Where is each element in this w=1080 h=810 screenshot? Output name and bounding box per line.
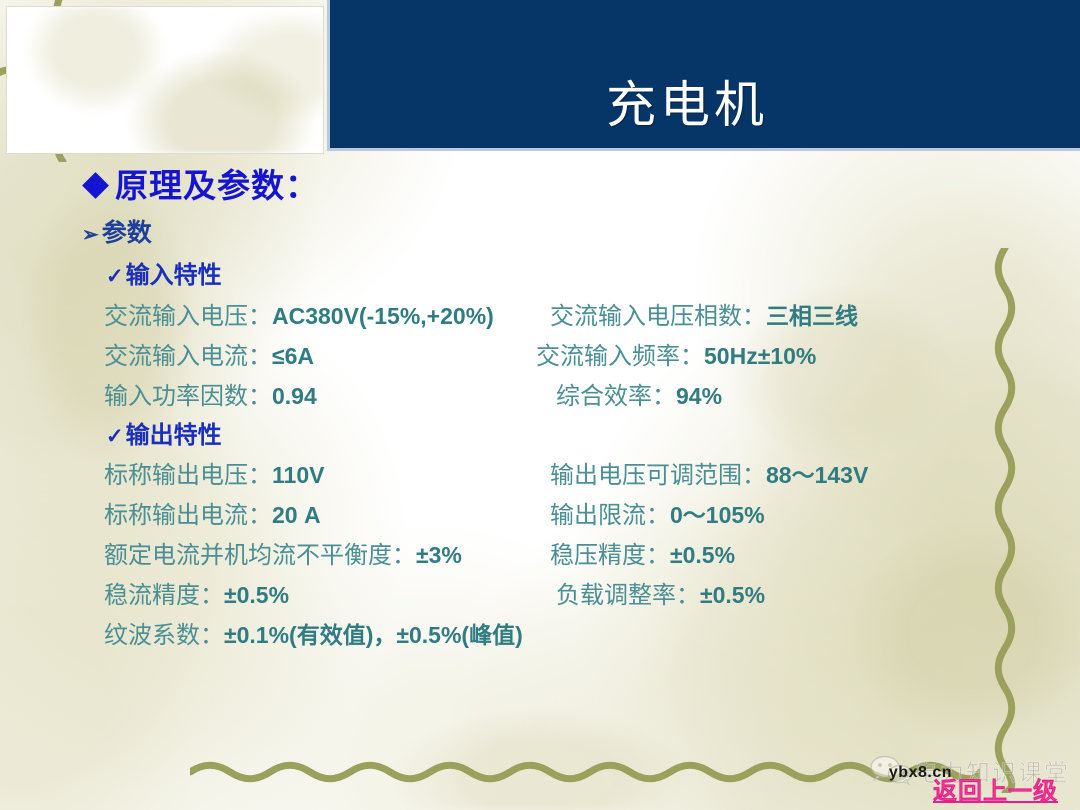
section-title-label: 输入特性: [126, 263, 222, 289]
param-label: 稳压精度：: [550, 543, 670, 569]
slide-image-panel: [6, 6, 324, 154]
param-label: 标称输出电压：: [104, 463, 272, 489]
slide-canvas: 充电机 原理及参数： ➢参数 ✓输入特性 ✓输出特性 交流输入电压：AC380V…: [0, 0, 1080, 810]
param-label: 负载调整率：: [556, 583, 700, 609]
slide-title-bar: 充电机: [327, 0, 1080, 151]
param-label: 交流输入电压：: [104, 304, 272, 330]
param-row: 稳流精度：±0.5%: [104, 584, 289, 608]
param-row: 交流输入电压相数：三相三线: [550, 305, 858, 329]
param-row: 交流输入频率：50Hz±10%: [536, 345, 816, 369]
param-label: 额定电流并机均流不平衡度：: [104, 543, 416, 569]
param-value: ±0.5%: [224, 582, 289, 608]
param-value: ≤6A: [272, 343, 314, 369]
param-value: 0.94: [272, 383, 317, 409]
param-label: 交流输入电流：: [104, 344, 272, 370]
param-value: ±3%: [416, 542, 462, 568]
param-label: 纹波系数：: [104, 623, 224, 649]
param-row: 标称输出电流：20 A: [104, 504, 321, 528]
param-row: 交流输入电压：AC380V(-15%,+20%): [104, 305, 494, 329]
param-label: 稳流精度：: [104, 583, 224, 609]
param-row: 稳压精度：±0.5%: [550, 544, 735, 568]
section-title-output-characteristics: ✓输出特性: [106, 415, 222, 450]
section-title-label: 输出特性: [126, 423, 222, 449]
check-bullet-icon: ✓: [106, 424, 124, 449]
panel-floral-wash: [7, 7, 323, 153]
param-row: 负载调整率：±0.5%: [556, 584, 765, 608]
param-label: 输出限流：: [550, 503, 670, 529]
param-value: 三相三线: [766, 303, 858, 329]
param-value: ±0.1%(有效值)，±0.5%(峰值): [224, 622, 523, 648]
param-value: ±0.5%: [700, 582, 765, 608]
section-title-input-characteristics: ✓输入特性: [106, 255, 222, 290]
param-row: 综合效率：94%: [556, 385, 722, 409]
param-label: 综合效率：: [556, 384, 676, 410]
check-bullet-icon: ✓: [106, 264, 124, 289]
page-title: 充电机: [606, 80, 768, 148]
section-heading-principles: 原理及参数：: [86, 159, 319, 207]
param-value: 0～105%: [670, 502, 765, 528]
param-value: 88～143V: [766, 462, 868, 488]
param-row: 交流输入电流：≤6A: [104, 345, 314, 369]
arrow-bullet-icon: ➢: [82, 222, 99, 247]
param-label: 交流输入频率：: [536, 344, 704, 370]
param-value: AC380V(-15%,+20%): [272, 303, 494, 329]
param-label: 交流输入电压相数：: [550, 304, 766, 330]
param-row: 额定电流并机均流不平衡度：±3%: [104, 544, 462, 568]
param-value: ±0.5%: [670, 542, 735, 568]
param-value: 50Hz±10%: [704, 343, 816, 369]
param-label: 输入功率因数：: [104, 384, 272, 410]
section-heading-label: 原理及参数：: [115, 169, 319, 205]
subsection-heading-label: 参数: [102, 220, 152, 247]
back-to-previous-link[interactable]: 返回上一级: [933, 771, 1058, 806]
param-row: 纹波系数：±0.1%(有效值)，±0.5%(峰值): [104, 624, 523, 648]
param-value: 110V: [272, 462, 324, 488]
slide-content: 原理及参数： ➢参数 ✓输入特性 ✓输出特性 交流输入电压：AC380V(-15…: [0, 151, 1080, 810]
param-row: 输出限流：0～105%: [550, 504, 765, 528]
param-label: 输出电压可调范围：: [550, 463, 766, 489]
param-value: 20 A: [272, 502, 321, 528]
subsection-heading-parameters: ➢参数: [82, 213, 152, 249]
diamond-bullet-icon: [82, 172, 109, 199]
param-row: 输出电压可调范围：88～143V: [550, 464, 868, 488]
param-row: 标称输出电压：110V: [104, 464, 324, 488]
param-value: 94%: [676, 383, 722, 409]
param-label: 标称输出电流：: [104, 503, 272, 529]
param-row: 输入功率因数：0.94: [104, 385, 317, 409]
